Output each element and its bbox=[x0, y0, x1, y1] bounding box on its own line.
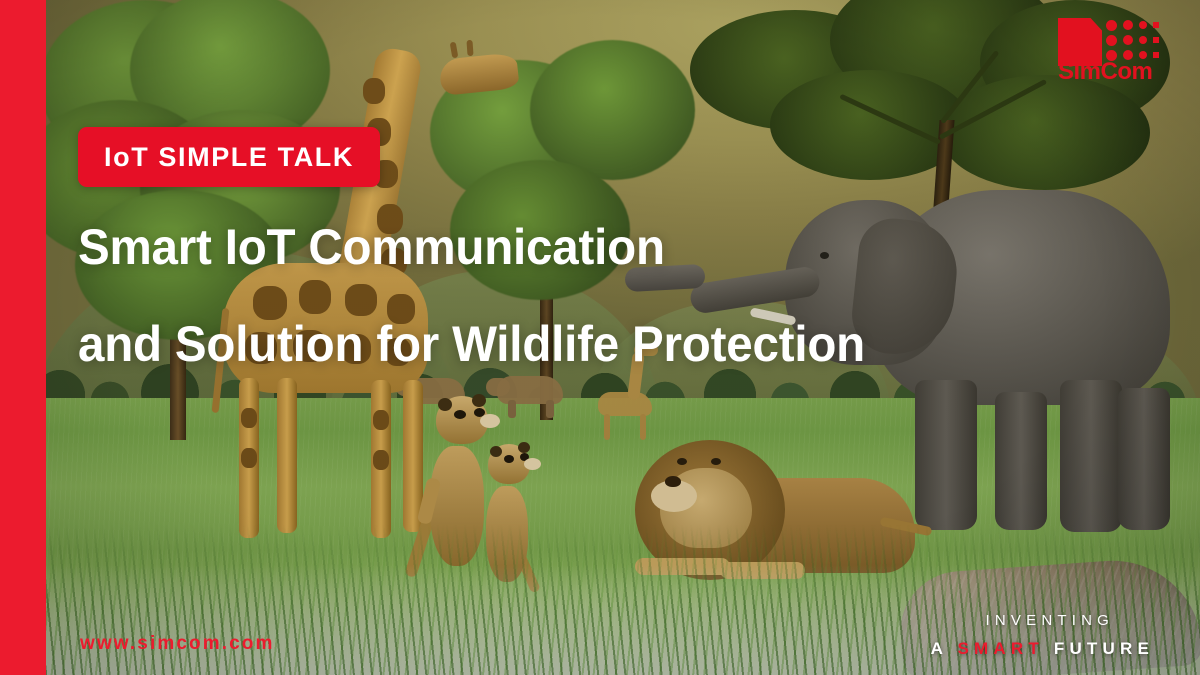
badge-label: IoT SIMPLE TALK bbox=[104, 142, 354, 173]
headline-line-2: and Solution for Wildlife Protection bbox=[78, 319, 865, 370]
brand-tagline: INVENTING A SMART FUTURE bbox=[931, 612, 1154, 659]
logo-wordmark: SimCom bbox=[1058, 58, 1170, 86]
iot-simple-talk-badge: IoT SIMPLE TALK bbox=[78, 127, 380, 187]
page-title: Smart IoT Communication and Solution for… bbox=[78, 222, 906, 370]
banner-slide: IoT SIMPLE TALK Smart IoT Communication … bbox=[0, 0, 1200, 675]
tagline-prefix: A bbox=[931, 639, 948, 658]
tagline-highlight: SMART bbox=[957, 639, 1043, 658]
simcom-logo[interactable]: SimCom bbox=[1058, 18, 1166, 82]
tagline-suffix: FUTURE bbox=[1054, 639, 1154, 658]
website-url[interactable]: www.simcom.com bbox=[80, 633, 274, 655]
left-accent-bar bbox=[0, 0, 46, 675]
headline-line-1: Smart IoT Communication bbox=[78, 222, 865, 273]
tagline-line-2: A SMART FUTURE bbox=[931, 639, 1154, 659]
tagline-line-1: INVENTING bbox=[931, 612, 1154, 629]
